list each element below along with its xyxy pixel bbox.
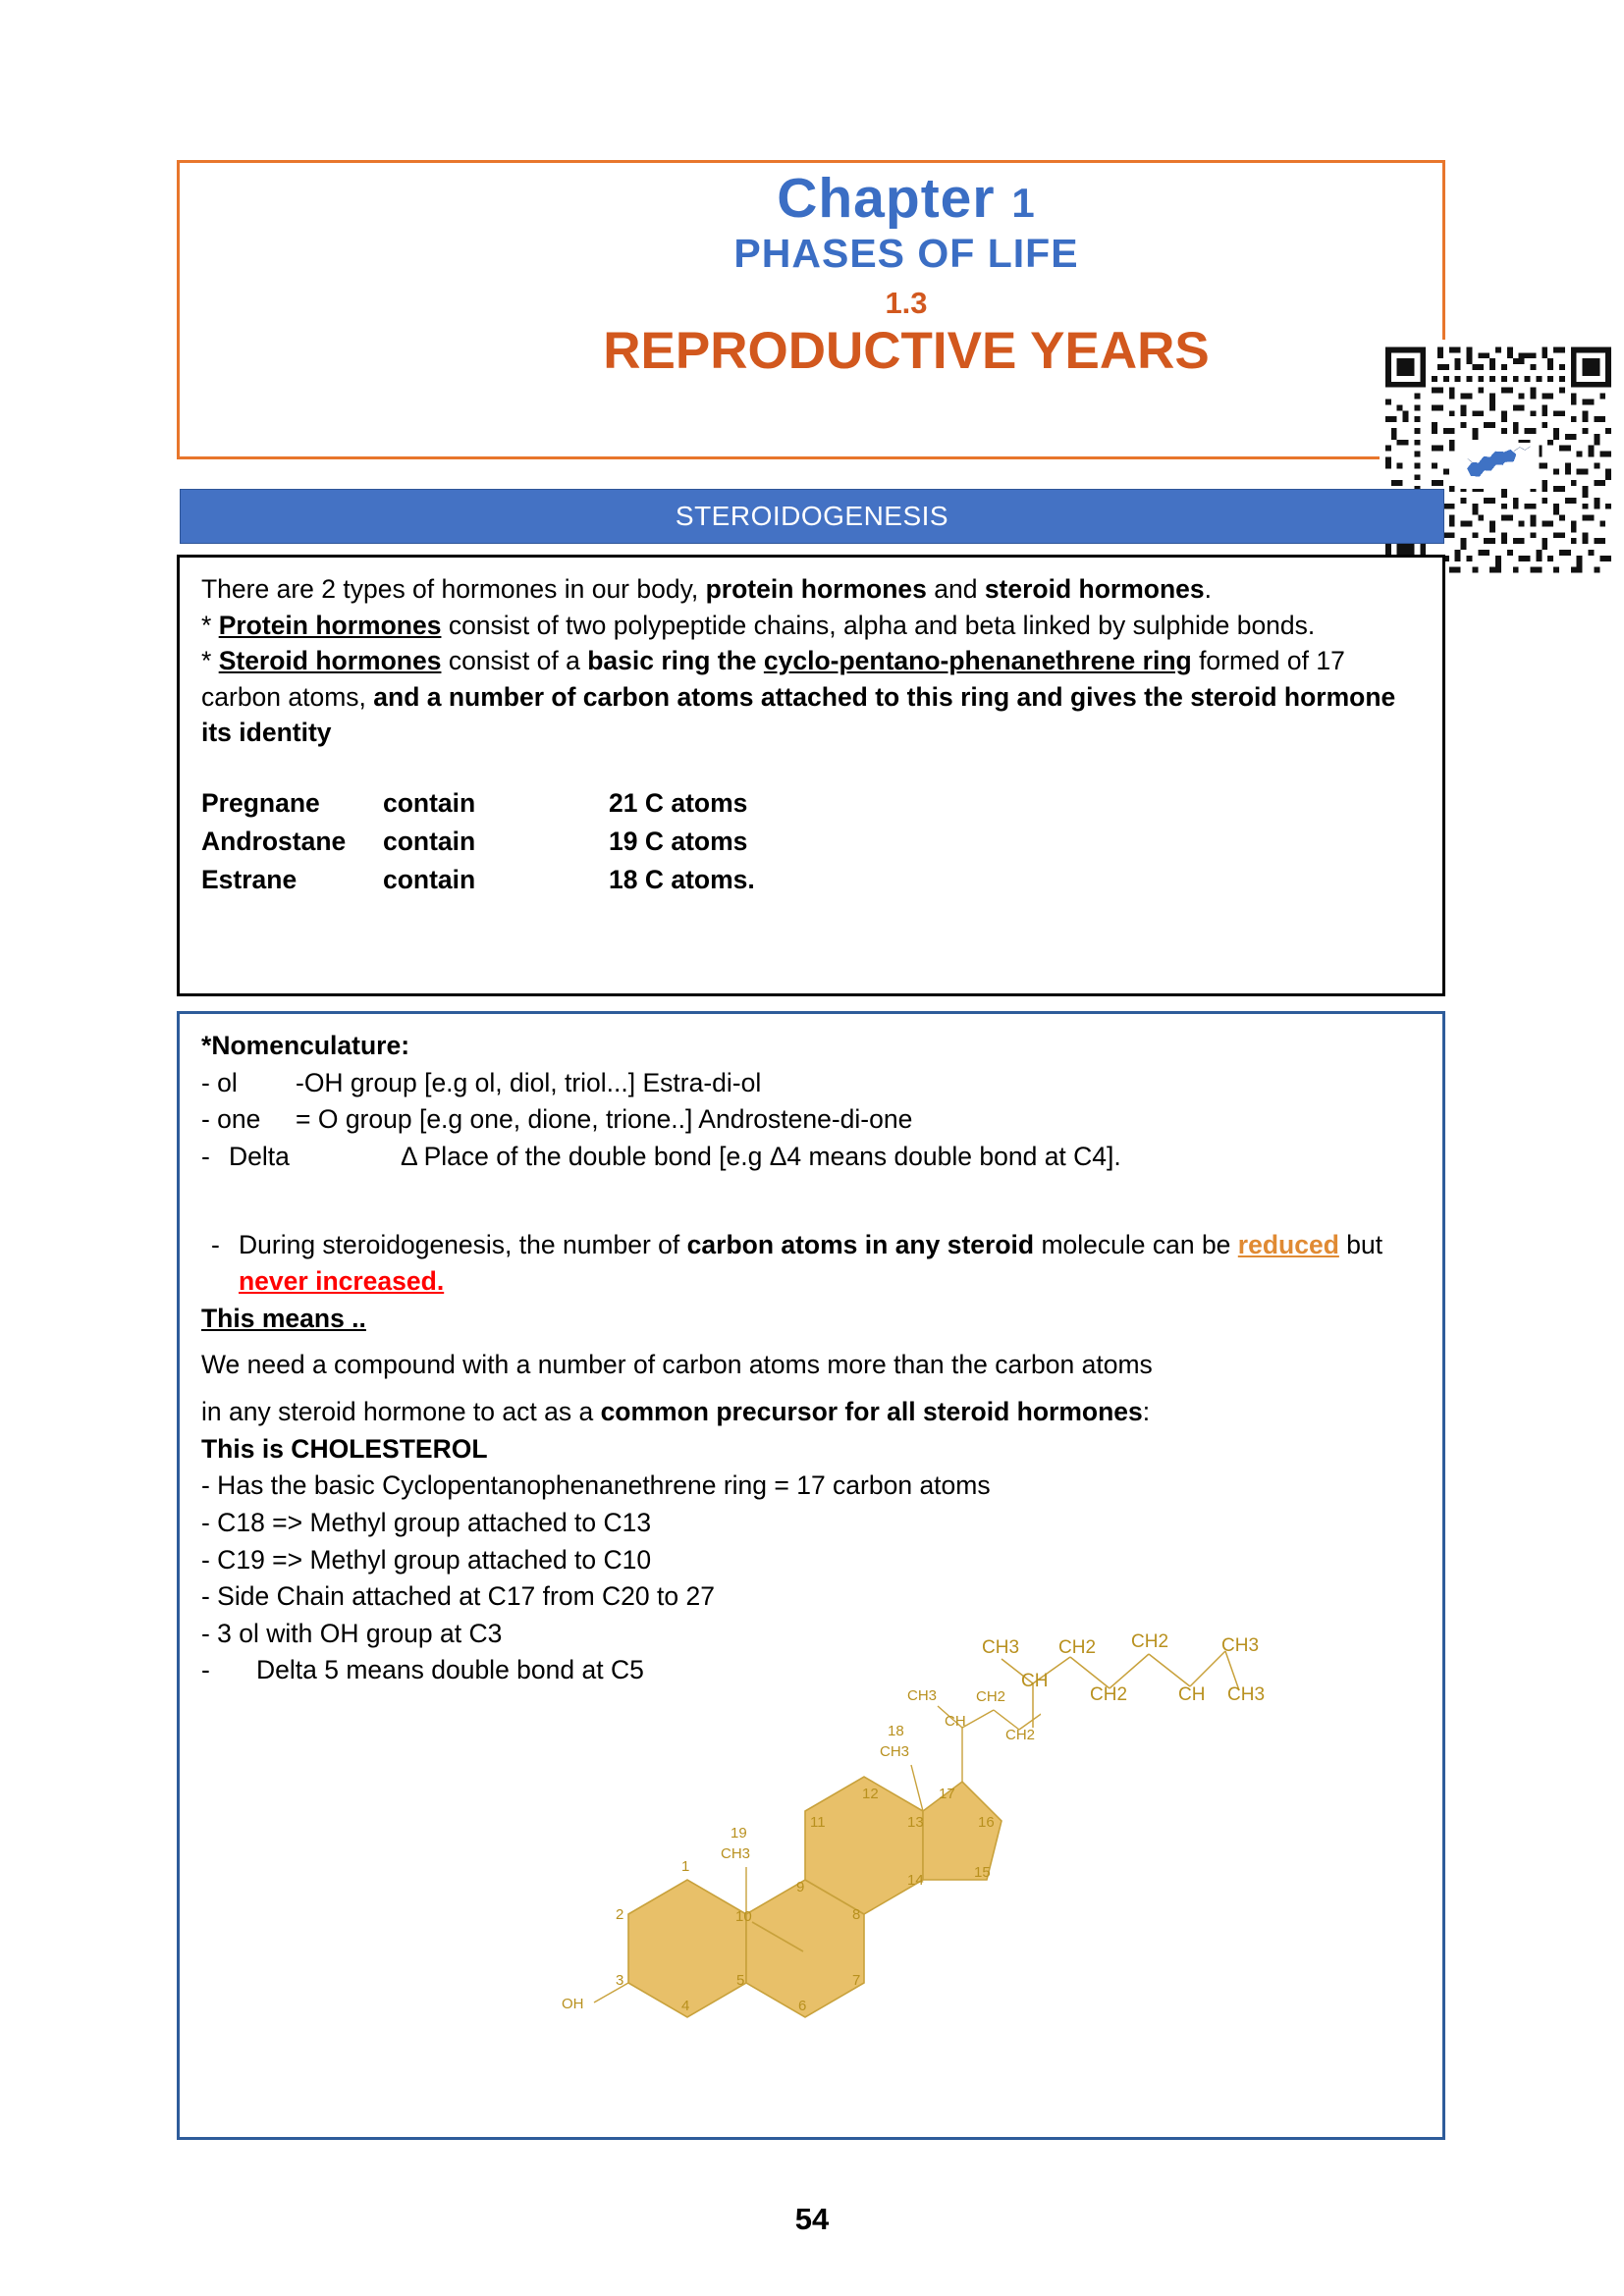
ring-a xyxy=(628,1880,746,2017)
p3-term: Steroid hormones xyxy=(219,646,442,675)
cholesterol-bullet: - Has the basic Cyclopentanophenanethren… xyxy=(201,1468,1421,1505)
class-atoms: 19 C atoms xyxy=(609,823,903,861)
hormone-types-box: There are 2 types of hormones in our bod… xyxy=(177,555,1445,996)
ring-label-6: 6 xyxy=(798,1998,806,2014)
class-name: Androstane xyxy=(201,823,383,861)
ring-label-13: 13 xyxy=(907,1814,924,1831)
spacer xyxy=(201,1384,1421,1394)
p3-star: * xyxy=(201,646,219,675)
sc-label-ch3-bottom: CH3 xyxy=(1227,1684,1265,1705)
during-carbon-atoms: carbon atoms in any steroid xyxy=(687,1230,1034,1259)
ring-label-14: 14 xyxy=(907,1872,924,1889)
ring-label-4: 4 xyxy=(681,1998,689,2014)
during-text: During steroidogenesis, the number of ca… xyxy=(239,1227,1421,1301)
class-atoms: 18 C atoms. xyxy=(609,861,903,899)
page-number: 54 xyxy=(0,2202,1624,2237)
spacer xyxy=(201,1176,1421,1201)
precursor-colon: : xyxy=(1143,1397,1150,1426)
methyl-18-number: 18 xyxy=(888,1723,904,1739)
nom-ol-value: -OH group [e.g ol, diol, triol...] Estra… xyxy=(296,1068,761,1097)
need-compound-line: We need a compound with a number of carb… xyxy=(201,1347,1421,1384)
sc-label-ch2-bottom1: CH2 xyxy=(1090,1684,1127,1705)
nomenclature-one-line: - one= O group [e.g one, dione, trione..… xyxy=(201,1101,1421,1139)
sc-label-ch3-left: CH3 xyxy=(982,1637,1019,1658)
ring-label-12: 12 xyxy=(862,1786,879,1802)
sc-label-ch: CH xyxy=(1021,1671,1048,1691)
class-verb: contain xyxy=(383,861,609,899)
precursor-part-a: in any steroid hormone to act as a xyxy=(201,1397,601,1426)
ring-label-2: 2 xyxy=(616,1906,623,1923)
steroid-classes-table: Pregnane contain 21 C atoms Androstane c… xyxy=(201,784,1421,900)
ring-label-5: 5 xyxy=(736,1972,744,1989)
side-chain-ch: CH xyxy=(945,1713,966,1730)
during-part-c: molecule can be xyxy=(1034,1230,1238,1259)
during-steroidogenesis-line: - During steroidogenesis, the number of … xyxy=(201,1227,1421,1301)
p2-star: * xyxy=(201,611,219,640)
spacer xyxy=(201,1201,1421,1227)
ring-label-3: 3 xyxy=(616,1972,623,1989)
cholesterol-bullet: - C19 => Methyl group attached to C10 xyxy=(201,1542,1421,1579)
sc-label-ch2-top1: CH2 xyxy=(1058,1637,1096,1658)
during-part-a: During steroidogenesis, the number of xyxy=(239,1230,687,1259)
table-row: Pregnane contain 21 C atoms xyxy=(201,784,1421,823)
nom-delta-value: Δ Place of the double bond [e.g Δ4 means… xyxy=(401,1142,1121,1171)
highlight-never-increased: never increased. xyxy=(239,1266,444,1296)
class-atoms: 21 C atoms xyxy=(609,784,903,823)
ring-label-1: 1 xyxy=(681,1858,689,1875)
nom-ol-key: - ol xyxy=(201,1065,296,1102)
cholesterol-structure-diagram: 1 2 3 4 5 6 7 8 9 10 11 12 13 14 15 16 1… xyxy=(491,1620,1041,2101)
sc-label-ch3-top: CH3 xyxy=(1221,1635,1259,1656)
class-name: Estrane xyxy=(201,861,383,899)
this-is-cholesterol-text: This is CHOLESTEROL xyxy=(201,1434,488,1464)
precursor-line: in any steroid hormone to act as a commo… xyxy=(201,1394,1421,1431)
class-name: Pregnane xyxy=(201,784,383,823)
nomenclature-ol-line: - ol-OH group [e.g ol, diol, triol...] E… xyxy=(201,1065,1421,1102)
nom-one-key: - one xyxy=(201,1101,296,1139)
methyl-19-label: CH3 xyxy=(721,1845,750,1862)
p1-period: . xyxy=(1205,574,1212,604)
highlight-reduced: reduced xyxy=(1238,1230,1339,1259)
methyl-18-label: CH3 xyxy=(880,1743,909,1760)
p1-protein-hormones: protein hormones xyxy=(706,574,927,604)
this-is-cholesterol-line: This is CHOLESTEROL xyxy=(201,1431,1421,1468)
chapter-header-box: Chapter 1 PHASES OF LIFE 1.3 REPRODUCTIV… xyxy=(177,160,1445,459)
side-chain-ch3-a: CH3 xyxy=(907,1687,937,1704)
paragraph-protein-hormones: * Protein hormones consist of two polype… xyxy=(201,608,1421,644)
nomenclature-delta-line: -DeltaΔ Place of the double bond [e.g Δ4… xyxy=(201,1139,1421,1176)
p1-part-a: There are 2 types of hormones in our bod… xyxy=(201,574,706,604)
section-banner-steroidogenesis: STEROIDOGENESIS xyxy=(180,489,1444,544)
p1-and: and xyxy=(927,574,985,604)
sc-label-ch2-top2: CH2 xyxy=(1131,1631,1168,1652)
nom-one-value: = O group [e.g one, dione, trione..] And… xyxy=(296,1104,912,1134)
class-verb: contain xyxy=(383,823,609,861)
c18-methyl-bond xyxy=(911,1765,923,1811)
ring-label-17: 17 xyxy=(939,1786,955,1802)
p2-rest: consist of two polypeptide chains, alpha… xyxy=(441,611,1315,640)
sc-label-ch-right: CH xyxy=(1178,1684,1205,1705)
p2-term: Protein hormones xyxy=(219,611,442,640)
p3-basic-ring: basic ring the xyxy=(587,646,764,675)
paragraph-steroid-hormones: * Steroid hormones consist of a basic ri… xyxy=(201,643,1421,751)
delta5-bullet: - xyxy=(201,1652,229,1689)
ring-label-10: 10 xyxy=(735,1908,752,1925)
nomenclature-title: *Nomenculature: xyxy=(201,1028,1421,1065)
precursor-bold: common precursor for all steroid hormone… xyxy=(601,1397,1143,1426)
hydroxyl-label: OH xyxy=(562,1996,584,2012)
cholesterol-side-chain-extension: CH3 CH CH2 CH2 CH2 CH CH3 CH3 xyxy=(982,1610,1394,1737)
chapter-number: 1 xyxy=(1011,180,1035,226)
section-number: 1.3 xyxy=(474,285,1338,321)
spacer xyxy=(201,1337,1421,1347)
document-page: Chapter 1 PHASES OF LIFE 1.3 REPRODUCTIV… xyxy=(0,0,1624,2296)
chapter-word: Chapter xyxy=(777,167,995,230)
p3-mid1: consist of a xyxy=(441,646,587,675)
p3-ring-name: cyclo-pentano-phenanethrene ring xyxy=(764,646,1192,675)
nomenclature-title-text: *Nomenculature: xyxy=(201,1031,409,1060)
this-means-text: This means .. xyxy=(201,1304,366,1333)
ring-label-11: 11 xyxy=(810,1814,826,1831)
paragraph-hormone-types: There are 2 types of hormones in our bod… xyxy=(201,571,1421,608)
cholesterol-bullet: - C18 => Methyl group attached to C13 xyxy=(201,1505,1421,1542)
class-verb: contain xyxy=(383,784,609,823)
p1-steroid-hormones: steroid hormones xyxy=(985,574,1205,604)
chapter-title: Chapter 1 xyxy=(474,171,1338,227)
ring-label-15: 15 xyxy=(974,1864,991,1881)
ring-label-7: 7 xyxy=(852,1972,860,1989)
ring-label-8: 8 xyxy=(852,1906,860,1923)
table-row: Estrane contain 18 C atoms. xyxy=(201,861,1421,899)
title-stack: Chapter 1 PHASES OF LIFE 1.3 REPRODUCTIV… xyxy=(474,171,1338,381)
nom-delta-bullet: - xyxy=(201,1139,229,1176)
during-but: but xyxy=(1339,1230,1382,1259)
table-row: Androstane contain 19 C atoms xyxy=(201,823,1421,861)
methyl-19-number: 19 xyxy=(731,1825,747,1842)
during-bullet: - xyxy=(201,1227,239,1301)
p3-identity: and a number of carbon atoms attached to… xyxy=(201,682,1395,748)
this-means-line: This means .. xyxy=(201,1301,1421,1338)
ring-label-16: 16 xyxy=(978,1814,995,1831)
qr-code-icon[interactable] xyxy=(1380,340,1617,580)
ring-label-9: 9 xyxy=(796,1879,804,1896)
banner-label: STEROIDOGENESIS xyxy=(676,501,948,532)
section-title: REPRODUCTIVE YEARS xyxy=(474,323,1338,380)
chapter-subtitle: PHASES OF LIFE xyxy=(474,231,1338,277)
nom-delta-key: Delta xyxy=(229,1139,401,1176)
